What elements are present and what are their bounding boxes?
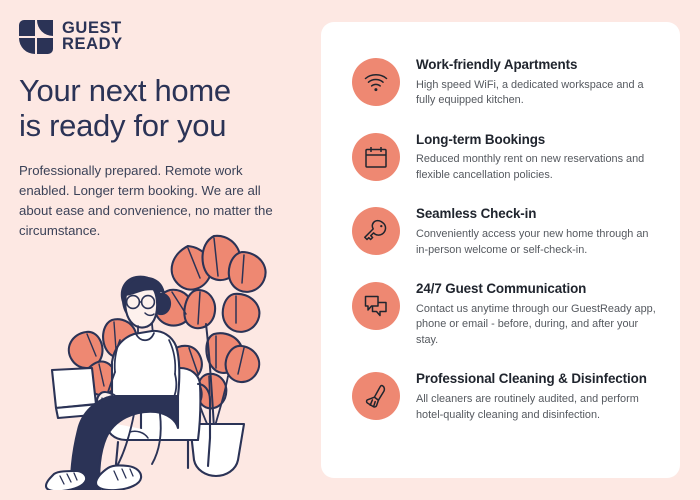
brand-name-line2: READY (62, 37, 123, 53)
feature-text: Professional Cleaning & Disinfection All… (416, 370, 662, 423)
chat-bubbles-icon (352, 282, 400, 330)
feature-title: Long-term Bookings (416, 132, 662, 149)
page-title: Your next home is ready for you (19, 74, 304, 143)
brand-logo[interactable]: GUEST READY (19, 20, 123, 54)
feature-title: 24/7 Guest Communication (416, 281, 662, 298)
marketing-infographic: GUEST READY Your next home is ready for … (0, 0, 700, 500)
list-item[interactable]: 24/7 Guest Communication Contact us anyt… (352, 280, 662, 348)
feature-text: Work-friendly Apartments High speed WiFi… (416, 56, 662, 109)
feature-text: 24/7 Guest Communication Contact us anyt… (416, 280, 662, 348)
features-panel: Work-friendly Apartments High speed WiFi… (321, 22, 680, 478)
list-item[interactable]: Work-friendly Apartments High speed WiFi… (352, 56, 662, 109)
list-item[interactable]: Seamless Check-in Conveniently access yo… (352, 205, 662, 258)
feature-list: Work-friendly Apartments High speed WiFi… (321, 22, 680, 423)
hero-column: GUEST READY Your next home is ready for … (0, 0, 320, 500)
guestready-quadrant-logo-icon (19, 20, 53, 54)
feature-title: Seamless Check-in (416, 206, 662, 223)
feature-title: Professional Cleaning & Disinfection (416, 371, 662, 388)
feature-text: Seamless Check-in Conveniently access yo… (416, 205, 662, 258)
feature-description: Contact us anytime through our GuestRead… (416, 302, 662, 348)
headline-line-1: Your next home (19, 74, 304, 109)
key-icon (352, 207, 400, 255)
feature-description: High speed WiFi, a dedicated workspace a… (416, 78, 662, 109)
list-item[interactable]: Professional Cleaning & Disinfection All… (352, 370, 662, 423)
feature-text: Long-term Bookings Reduced monthly rent … (416, 131, 662, 184)
feature-description: Reduced monthly rent on new reservations… (416, 152, 662, 183)
broom-icon (352, 372, 400, 420)
feature-title: Work-friendly Apartments (416, 57, 662, 74)
woman-on-chair-with-laptop-and-plants-illustration (38, 228, 310, 490)
list-item[interactable]: Long-term Bookings Reduced monthly rent … (352, 131, 662, 184)
brand-wordmark: GUEST READY (62, 21, 123, 53)
headline-line-2: is ready for you (19, 109, 304, 144)
feature-description: Conveniently access your new home throug… (416, 227, 662, 258)
calendar-icon (352, 133, 400, 181)
feature-description: All cleaners are routinely audited, and … (416, 392, 662, 423)
wifi-icon (352, 58, 400, 106)
